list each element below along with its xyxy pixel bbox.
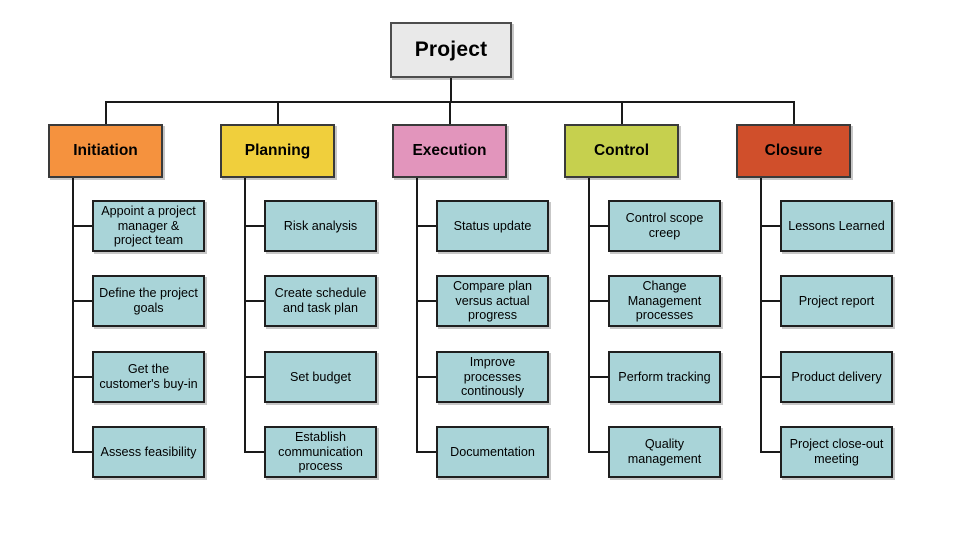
phase-drop-1 — [277, 101, 279, 126]
leaf-stub-2-2 — [416, 376, 438, 378]
task-node[interactable]: Status update — [436, 200, 549, 252]
leaf-stub-2-0 — [416, 225, 438, 227]
work-breakdown-structure-diagram: Project InitiationAppoint a project mana… — [0, 0, 978, 560]
leaf-stub-4-2 — [760, 376, 782, 378]
phase-node-initiation[interactable]: Initiation — [48, 124, 163, 178]
phase-drop-0 — [105, 101, 107, 126]
task-node-label: Establish communication process — [266, 430, 375, 475]
task-node[interactable]: Change Management processes — [608, 275, 721, 327]
phase-node-control[interactable]: Control — [564, 124, 679, 178]
task-node-label: Get the customer's buy-in — [94, 362, 203, 392]
task-node-label: Perform tracking — [614, 370, 714, 385]
task-node[interactable]: Assess feasibility — [92, 426, 205, 478]
spine-2 — [416, 178, 418, 453]
leaf-stub-4-0 — [760, 225, 782, 227]
task-node-label: Change Management processes — [610, 279, 719, 324]
task-node-label: Appoint a project manager & project team — [94, 204, 203, 249]
spine-3 — [588, 178, 590, 453]
leaf-stub-0-0 — [72, 225, 94, 227]
leaf-stub-2-1 — [416, 300, 438, 302]
root-node-project[interactable]: Project — [390, 22, 512, 78]
phase-node-label: Initiation — [69, 142, 142, 160]
task-node-label: Documentation — [446, 445, 539, 460]
task-node-label: Create schedule and task plan — [266, 286, 375, 316]
spine-4 — [760, 178, 762, 453]
task-node[interactable]: Compare plan versus actual progress — [436, 275, 549, 327]
leaf-stub-4-3 — [760, 451, 782, 453]
leaf-stub-4-1 — [760, 300, 782, 302]
task-node-label: Project report — [795, 294, 879, 309]
task-node-label: Quality management — [610, 437, 719, 467]
task-node-label: Project close-out meeting — [782, 437, 891, 467]
task-node[interactable]: Define the project goals — [92, 275, 205, 327]
spine-0 — [72, 178, 74, 453]
task-node[interactable]: Lessons Learned — [780, 200, 893, 252]
phase-node-label: Execution — [408, 142, 490, 160]
phase-node-closure[interactable]: Closure — [736, 124, 851, 178]
leaf-stub-3-3 — [588, 451, 610, 453]
task-node[interactable]: Get the customer's buy-in — [92, 351, 205, 403]
task-node-label: Define the project goals — [94, 286, 203, 316]
task-node[interactable]: Project close-out meeting — [780, 426, 893, 478]
task-node[interactable]: Risk analysis — [264, 200, 377, 252]
phase-drop-2 — [449, 101, 451, 126]
task-node-label: Assess feasibility — [97, 445, 201, 460]
task-node[interactable]: Improve processes continously — [436, 351, 549, 403]
task-node-label: Lessons Learned — [784, 219, 889, 234]
phase-node-label: Control — [590, 142, 653, 160]
task-node-label: Improve processes continously — [438, 355, 547, 400]
leaf-stub-1-3 — [244, 451, 266, 453]
task-node[interactable]: Set budget — [264, 351, 377, 403]
task-node[interactable]: Project report — [780, 275, 893, 327]
phase-node-planning[interactable]: Planning — [220, 124, 335, 178]
leaf-stub-1-0 — [244, 225, 266, 227]
leaf-stub-3-1 — [588, 300, 610, 302]
leaf-stub-3-2 — [588, 376, 610, 378]
leaf-stub-1-1 — [244, 300, 266, 302]
leaf-stub-1-2 — [244, 376, 266, 378]
leaf-stub-0-3 — [72, 451, 94, 453]
task-node-label: Risk analysis — [280, 219, 361, 234]
task-node[interactable]: Create schedule and task plan — [264, 275, 377, 327]
leaf-stub-3-0 — [588, 225, 610, 227]
task-node-label: Compare plan versus actual progress — [438, 279, 547, 324]
phase-node-execution[interactable]: Execution — [392, 124, 507, 178]
task-node[interactable]: Product delivery — [780, 351, 893, 403]
task-node[interactable]: Establish communication process — [264, 426, 377, 478]
leaf-stub-0-2 — [72, 376, 94, 378]
phase-drop-3 — [621, 101, 623, 126]
phase-node-label: Closure — [761, 142, 827, 160]
root-stem — [450, 78, 452, 103]
task-node[interactable]: Quality management — [608, 426, 721, 478]
leaf-stub-2-3 — [416, 451, 438, 453]
task-node[interactable]: Documentation — [436, 426, 549, 478]
task-node[interactable]: Control scope creep — [608, 200, 721, 252]
phase-drop-4 — [793, 101, 795, 126]
root-node-label: Project — [411, 38, 492, 63]
task-node-label: Control scope creep — [610, 211, 719, 241]
task-node[interactable]: Appoint a project manager & project team — [92, 200, 205, 252]
task-node-label: Status update — [450, 219, 536, 234]
task-node-label: Set budget — [286, 370, 355, 385]
leaf-stub-0-1 — [72, 300, 94, 302]
spine-1 — [244, 178, 246, 453]
task-node[interactable]: Perform tracking — [608, 351, 721, 403]
phase-node-label: Planning — [241, 142, 314, 160]
task-node-label: Product delivery — [787, 370, 885, 385]
